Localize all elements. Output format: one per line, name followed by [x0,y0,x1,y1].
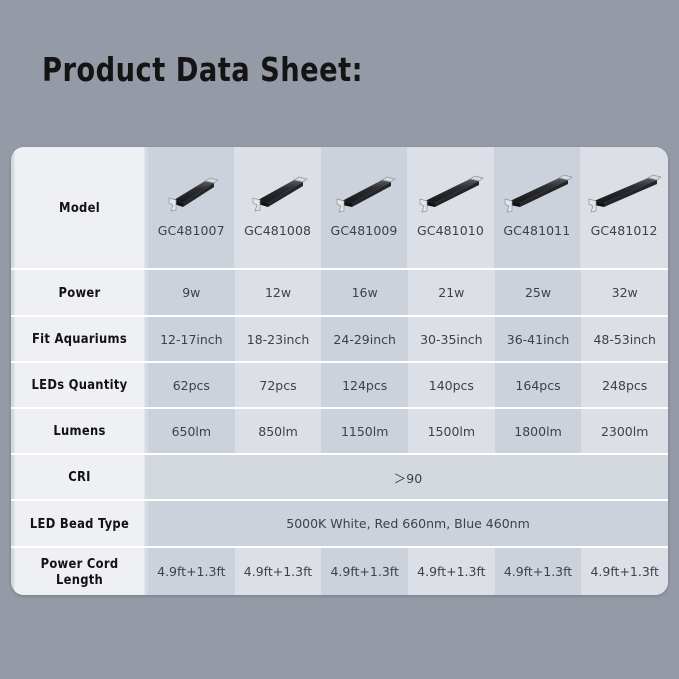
model-cells: GC481007 [148,147,668,268]
power-cell-5: 25w [495,270,582,315]
table-row-power-cord-length: Power Cord Length 4.9ft+1.3ft 4.9ft+1.3f… [11,548,668,595]
leds-quantity-cell-1: 62pcs [148,363,235,407]
table-row-model: Model [11,147,668,270]
model-cell-2: GC481008 [234,147,320,268]
leds-quantity-cell-4: 140pcs [408,363,495,407]
model-cell-1: GC481007 [148,147,234,268]
leds-quantity-cell-6: 248pcs [581,363,668,407]
lumens-cell-4: 1500lm [408,409,495,453]
fit-aquariums-cell-2: 18-23inch [235,317,322,361]
power-cord-length-cell-5: 4.9ft+1.3ft [495,548,582,595]
power-cord-length-cell-1: 4.9ft+1.3ft [148,548,235,595]
power-cord-length-cell-6: 4.9ft+1.3ft [581,548,668,595]
fit-aquariums-cell-4: 30-35inch [408,317,495,361]
power-cord-length-cell-4: 4.9ft+1.3ft [408,548,495,595]
row-label-leds-quantity: LEDs Quantity [14,363,144,407]
power-cell-6: 32w [581,270,668,315]
row-label-lumens: Lumens [14,409,144,453]
table-row-power: Power 9w 12w 16w 21w 25w 32w [11,270,668,317]
lumens-cell-6: 2300lm [581,409,668,453]
product-image-icon-1 [150,165,232,221]
power-cord-length-cells: 4.9ft+1.3ft 4.9ft+1.3ft 4.9ft+1.3ft 4.9f… [148,548,668,595]
table-row-fit-aquariums: Fit Aquariums 12-17inch 18-23inch 24-29i… [11,317,668,363]
cri-value: ＞90 [148,455,668,499]
power-cord-length-cell-3: 4.9ft+1.3ft [321,548,408,595]
product-image-icon-2 [236,165,318,221]
model-cell-4: GC481010 [407,147,493,268]
leds-quantity-cell-5: 164pcs [495,363,582,407]
model-code-3: GC481009 [331,223,398,238]
model-cell-5: GC481011 [494,147,580,268]
lumens-cell-3: 1150lm [321,409,408,453]
fit-aquariums-cell-6: 48-53inch [581,317,668,361]
model-cell-6: GC481012 [580,147,668,268]
model-code-2: GC481008 [244,223,311,238]
product-image-icon-3 [323,165,405,221]
page-title: Product Data Sheet: [42,50,363,89]
power-cell-2: 12w [235,270,322,315]
lumens-cells: 650lm 850lm 1150lm 1500lm 1800lm 2300lm [148,409,668,453]
power-cell-4: 21w [408,270,495,315]
row-label-power: Power [14,270,144,315]
table-row-lumens: Lumens 650lm 850lm 1150lm 1500lm 1800lm … [11,409,668,455]
led-bead-type-value: 5000K White, Red 660nm, Blue 460nm [148,501,668,546]
table-row-led-bead-type: LED Bead Type 5000K White, Red 660nm, Bl… [11,501,668,548]
row-label-power-cord-length: Power Cord Length [14,548,144,595]
model-code-6: GC481012 [591,223,658,238]
product-image-icon-4 [409,165,491,221]
power-cell-1: 9w [148,270,235,315]
fit-aquariums-cell-1: 12-17inch [148,317,235,361]
power-cell-3: 16w [321,270,408,315]
model-code-1: GC481007 [158,223,225,238]
power-cells: 9w 12w 16w 21w 25w 32w [148,270,668,315]
fit-aquariums-cell-3: 24-29inch [321,317,408,361]
row-label-model: Model [14,147,144,268]
model-code-5: GC481011 [503,223,570,238]
leds-quantity-cell-2: 72pcs [235,363,322,407]
leds-quantity-cell-3: 124pcs [321,363,408,407]
product-image-icon-5 [496,165,578,221]
row-label-cri: CRI [14,455,144,499]
model-code-4: GC481010 [417,223,484,238]
row-label-led-bead-type: LED Bead Type [14,501,144,546]
cri-cells: ＞90 [148,455,668,499]
lumens-cell-1: 650lm [148,409,235,453]
table-row-leds-quantity: LEDs Quantity 62pcs 72pcs 124pcs 140pcs … [11,363,668,409]
leds-quantity-cells: 62pcs 72pcs 124pcs 140pcs 164pcs 248pcs [148,363,668,407]
led-bead-type-cells: 5000K White, Red 660nm, Blue 460nm [148,501,668,546]
power-cord-length-cell-2: 4.9ft+1.3ft [235,548,322,595]
lumens-cell-5: 1800lm [495,409,582,453]
row-label-fit-aquariums: Fit Aquariums [14,317,144,361]
model-cell-3: GC481009 [321,147,407,268]
product-spec-table: Model [11,147,668,595]
fit-aquariums-cells: 12-17inch 18-23inch 24-29inch 30-35inch … [148,317,668,361]
table-row-cri: CRI ＞90 [11,455,668,501]
fit-aquariums-cell-5: 36-41inch [495,317,582,361]
product-image-icon-6 [582,165,666,221]
lumens-cell-2: 850lm [235,409,322,453]
